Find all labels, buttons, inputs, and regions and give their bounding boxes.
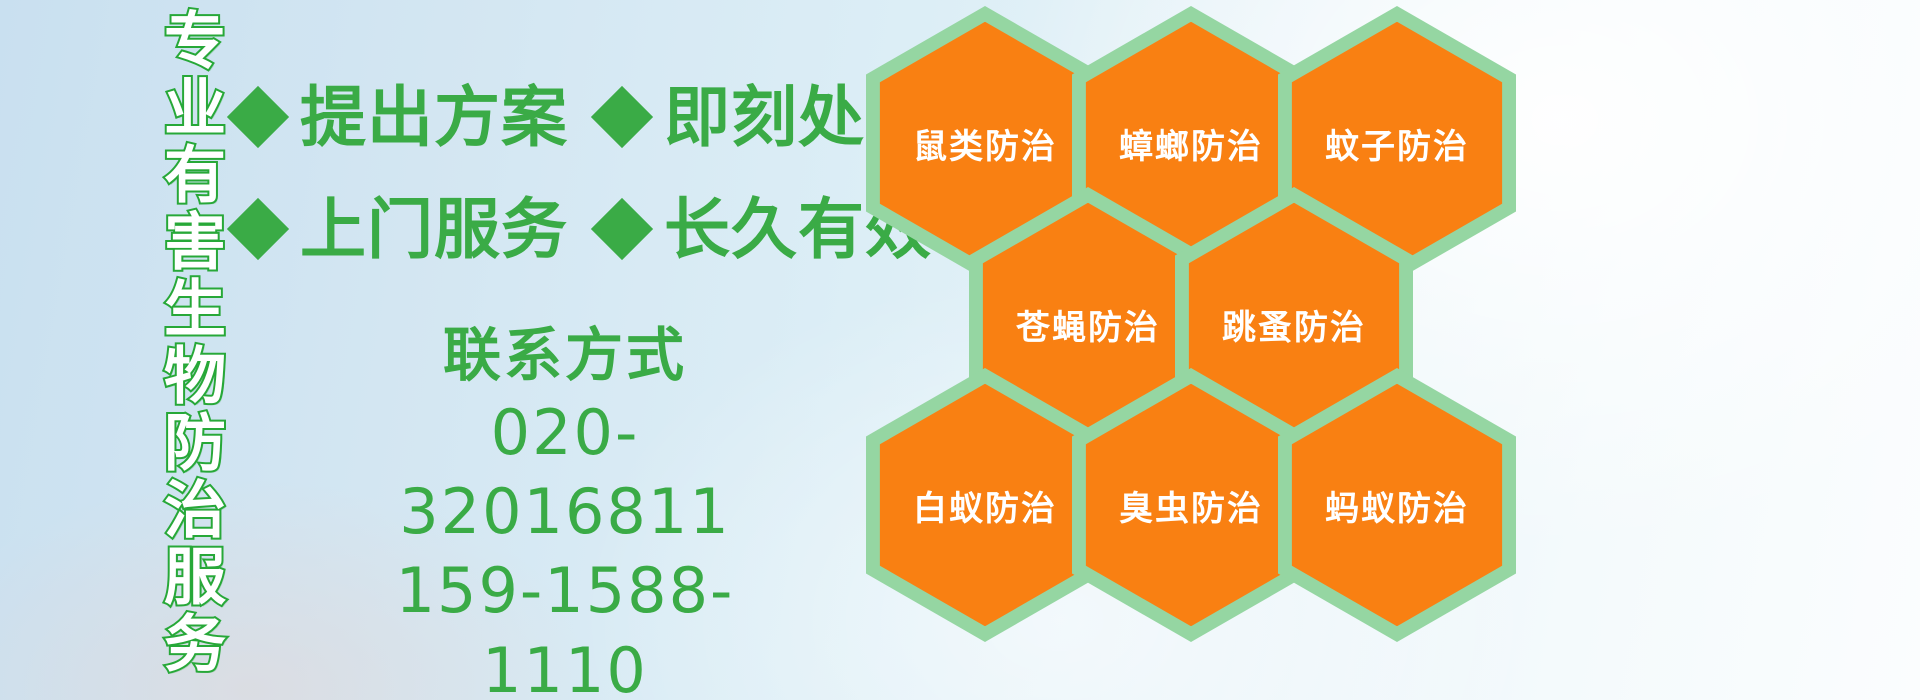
vertical-headline: 专业有害生物防治服务 — [105, 8, 220, 678]
service-label: 蚂蚁防治 — [1278, 368, 1516, 642]
phone-number-mobile[interactable]: 159-1588-1110 — [330, 551, 800, 700]
diamond-bullet-icon — [227, 198, 289, 260]
service-hexagon-bedbug[interactable]: 臭虫防治 — [1072, 368, 1310, 642]
diamond-bullet-icon — [591, 86, 653, 148]
service-label: 臭虫防治 — [1072, 368, 1310, 642]
contact-block: 联系方式 020-32016811 159-1588-1110 — [330, 320, 800, 700]
pest-control-banner: 专业有害生物防治服务 提出方案 即刻处理 上门服务 长久有效 联系方式 020-… — [0, 0, 1920, 700]
feature-label: 提出方案 — [300, 84, 568, 150]
feature-row-2: 上门服务 长久有效 — [236, 196, 932, 262]
feature-item-door-to-door-service: 上门服务 — [236, 196, 568, 262]
contact-label: 联系方式 — [330, 320, 800, 393]
service-hexagon-ant[interactable]: 蚂蚁防治 — [1278, 368, 1516, 642]
diamond-bullet-icon — [227, 86, 289, 148]
service-hexagon-termite[interactable]: 白蚁防治 — [866, 368, 1104, 642]
phone-number-landline[interactable]: 020-32016811 — [330, 393, 800, 552]
feature-row-1: 提出方案 即刻处理 — [236, 84, 932, 150]
feature-label: 上门服务 — [300, 196, 568, 262]
service-label: 白蚁防治 — [866, 368, 1104, 642]
diamond-bullet-icon — [591, 198, 653, 260]
feature-item-propose-plan: 提出方案 — [236, 84, 568, 150]
